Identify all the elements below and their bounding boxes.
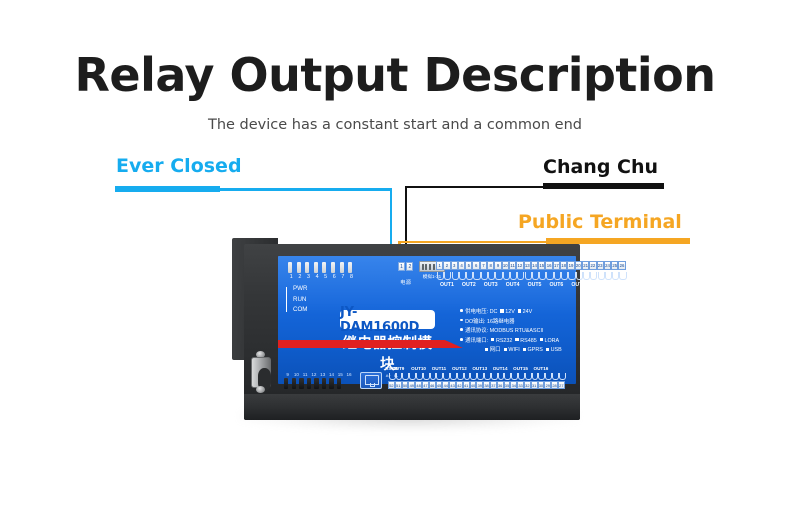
led-indicator bbox=[292, 378, 296, 389]
dip-pin bbox=[433, 264, 435, 270]
spec-option: 12V bbox=[505, 309, 515, 315]
terminal-screw bbox=[545, 270, 552, 281]
terminal-number: 8 bbox=[487, 261, 494, 270]
led-number: 16 bbox=[345, 372, 352, 377]
spec-option: 24V bbox=[523, 309, 533, 315]
db9-shell bbox=[251, 357, 271, 388]
output-label: OUT14 bbox=[490, 366, 510, 371]
led-number: 7 bbox=[340, 274, 347, 280]
output-label: OUT10 bbox=[408, 366, 428, 371]
terminal-number: 37 bbox=[490, 381, 497, 389]
led-number: 4 bbox=[314, 274, 321, 280]
terminal-number-row-top: 1234567891011121314151617181920212223242… bbox=[436, 261, 626, 270]
dip-pin bbox=[422, 264, 424, 270]
terminal-number: 38 bbox=[483, 381, 490, 389]
bullet-icon bbox=[460, 328, 463, 331]
spec-option: LORA bbox=[544, 338, 559, 344]
led-indicator bbox=[348, 262, 352, 273]
terminal-number-row-bottom: 5251504948474645444342414039383736353433… bbox=[388, 381, 565, 389]
terminal-screw bbox=[443, 270, 450, 281]
terminal-number: 11 bbox=[509, 261, 516, 270]
device-faceplate: 1 2 3 4 5 6 7 8 PWR RUN COM bbox=[278, 256, 576, 384]
power-terminal-block: 1 2 电源 bbox=[398, 262, 413, 286]
terminal-number: 48 bbox=[415, 381, 422, 389]
terminal-screw bbox=[567, 270, 574, 281]
terminal-screw bbox=[490, 372, 497, 381]
terminal-screw bbox=[487, 270, 494, 281]
bullet-icon bbox=[460, 319, 463, 322]
output-terminal-strip-top: 1234567891011121314151617181920212223242… bbox=[436, 261, 626, 288]
terminal-screw bbox=[494, 270, 501, 281]
checkbox-icon bbox=[504, 348, 507, 351]
spec-key: 通讯协议: bbox=[465, 328, 488, 334]
led-number: 3 bbox=[305, 274, 312, 280]
led-number: 9 bbox=[284, 372, 291, 377]
terminal-screw bbox=[480, 270, 487, 281]
spec-line-ports: 通讯端口:RS232RS485LORA bbox=[460, 337, 562, 347]
terminal-number: 14 bbox=[531, 261, 538, 270]
terminal-screw bbox=[524, 372, 531, 381]
terminal-screw bbox=[395, 372, 402, 381]
terminal-screw bbox=[504, 372, 511, 381]
bullet-icon bbox=[460, 309, 463, 312]
relay-module-device: 1 2 3 4 5 6 7 8 PWR RUN COM bbox=[232, 238, 580, 420]
terminal-screw bbox=[483, 372, 490, 381]
checkbox-icon bbox=[500, 309, 503, 312]
led-indicator bbox=[284, 378, 288, 389]
spec-key: 通讯端口: bbox=[465, 338, 488, 344]
db9-screw-icon bbox=[256, 386, 265, 393]
terminal-number: 12 bbox=[516, 261, 523, 270]
terminal-screw bbox=[429, 372, 436, 381]
spec-line-do-output: DO输出: 16路继电器 bbox=[460, 318, 562, 328]
chang-chu-leader-h bbox=[405, 186, 543, 188]
output-label: OUT1 bbox=[436, 282, 458, 288]
led-number: 13 bbox=[319, 372, 326, 377]
led-number: 6 bbox=[331, 274, 338, 280]
terminal-number: 9 bbox=[494, 261, 501, 270]
terminal-screw-row-bottom bbox=[388, 372, 565, 381]
terminal-number: 4 bbox=[458, 261, 465, 270]
led-numbers-bottom: 9 10 11 12 13 14 15 16 bbox=[284, 372, 353, 377]
terminal-screw bbox=[558, 372, 565, 381]
checkbox-icon bbox=[523, 348, 526, 351]
terminal-number: 21 bbox=[582, 261, 589, 270]
led-number: 12 bbox=[310, 372, 317, 377]
terminal-screw bbox=[463, 372, 470, 381]
terminal-number: 5 bbox=[465, 261, 472, 270]
terminal-screw bbox=[538, 270, 545, 281]
terminal-screw bbox=[604, 270, 611, 281]
terminal-number: 45 bbox=[436, 381, 443, 389]
terminal-number: 6 bbox=[472, 261, 479, 270]
terminal-screw bbox=[456, 372, 463, 381]
led-bank-top: 1 2 3 4 5 6 7 8 bbox=[288, 262, 355, 280]
spec-option: WIFI bbox=[508, 347, 519, 353]
led-number: 15 bbox=[337, 372, 344, 377]
terminal-number: 7 bbox=[480, 261, 487, 270]
output-label: OUT4 bbox=[502, 282, 524, 288]
terminal-screw bbox=[502, 270, 509, 281]
terminal-number: 29 bbox=[544, 381, 551, 389]
spec-option: 网口 bbox=[490, 347, 501, 353]
ever-closed-underline bbox=[115, 186, 220, 192]
spec-value: DC bbox=[490, 309, 498, 315]
terminal-screw bbox=[402, 372, 409, 381]
terminal-number: 15 bbox=[538, 261, 545, 270]
callout-label-public-terminal: Public Terminal bbox=[518, 211, 682, 233]
terminal-screw bbox=[472, 270, 479, 281]
bullet-icon bbox=[460, 338, 463, 341]
terminal-number: 25 bbox=[611, 261, 618, 270]
led-indicator bbox=[340, 262, 344, 273]
page-subtitle: The device has a constant start and a co… bbox=[0, 117, 790, 133]
output-label: OUT5 bbox=[524, 282, 546, 288]
checkbox-icon bbox=[515, 338, 518, 341]
terminal-number: 41 bbox=[463, 381, 470, 389]
terminal-number: 43 bbox=[449, 381, 456, 389]
chang-chu-underline bbox=[543, 183, 664, 189]
spec-line-protocol: 通讯协议: MODBUS RTU&ASCII bbox=[460, 327, 562, 337]
spec-option: RS232 bbox=[496, 338, 512, 344]
terminal-number: 50 bbox=[402, 381, 409, 389]
terminal-screw bbox=[560, 270, 567, 281]
terminal-number: 24 bbox=[604, 261, 611, 270]
spec-list: 供电电压: DC12V24V DO输出: 16路继电器 通讯协议: MODBUS… bbox=[460, 308, 562, 356]
spec-key: DO输出: bbox=[465, 319, 485, 325]
terminal-number: 31 bbox=[531, 381, 538, 389]
terminal-number: 39 bbox=[476, 381, 483, 389]
terminal-number: 46 bbox=[429, 381, 436, 389]
terminal-screw bbox=[516, 270, 523, 281]
terminal-number: 16 bbox=[545, 261, 552, 270]
checkbox-icon bbox=[518, 309, 521, 312]
output-label: OUT15 bbox=[510, 366, 530, 371]
terminal-screw bbox=[553, 270, 560, 281]
output-label: OUT12 bbox=[449, 366, 469, 371]
terminal-number: 51 bbox=[395, 381, 402, 389]
spec-option: RS485 bbox=[520, 338, 536, 344]
terminal-screw bbox=[531, 270, 538, 281]
led-indicator bbox=[322, 262, 326, 273]
terminal-number: 2 bbox=[443, 261, 450, 270]
led-indicator bbox=[329, 378, 333, 389]
terminal-number: 28 bbox=[551, 381, 558, 389]
led-indicator bbox=[305, 262, 309, 273]
terminal-screw bbox=[582, 270, 589, 281]
terminal-number: 34 bbox=[510, 381, 517, 389]
terminal-number: 49 bbox=[408, 381, 415, 389]
spec-option: GPRS bbox=[528, 347, 543, 353]
power-terminal: 2 bbox=[406, 262, 413, 271]
output-label: OUT11 bbox=[429, 366, 449, 371]
ever-closed-leader-h bbox=[220, 188, 392, 191]
checkbox-icon bbox=[546, 348, 549, 351]
output-label-row-bottom: OUT9OUT10OUT11OUT12OUT13OUT14OUT15OUT16 bbox=[388, 366, 565, 371]
model-badge: JY-DAM1600D bbox=[340, 310, 435, 329]
output-terminal-strip-bottom: OUT9OUT10OUT11OUT12OUT13OUT14OUT15OUT16 … bbox=[388, 366, 565, 389]
terminal-screw bbox=[458, 270, 465, 281]
output-label: OUT16 bbox=[531, 366, 551, 371]
checkbox-icon bbox=[491, 338, 494, 341]
dip-pin bbox=[425, 264, 427, 270]
terminal-screw bbox=[465, 270, 472, 281]
chassis-bottom-lip bbox=[244, 394, 580, 420]
status-bracket-icon bbox=[286, 287, 291, 312]
power-terminal-boxes: 1 2 bbox=[398, 262, 413, 271]
terminal-number: 33 bbox=[517, 381, 524, 389]
terminal-number: 30 bbox=[538, 381, 545, 389]
spec-option: USB bbox=[551, 347, 562, 353]
output-label: OUT2 bbox=[458, 282, 480, 288]
db9-serial-connector bbox=[248, 351, 274, 393]
terminal-screw-row-top bbox=[436, 270, 626, 281]
terminal-screw bbox=[415, 372, 422, 381]
led-indicator bbox=[299, 378, 303, 389]
led-numbers-top: 1 2 3 4 5 6 7 8 bbox=[288, 274, 355, 280]
led-row-top bbox=[288, 262, 355, 273]
terminal-screw bbox=[442, 372, 449, 381]
spec-value: MODBUS RTU&ASCII bbox=[490, 328, 544, 334]
terminal-number: 35 bbox=[504, 381, 511, 389]
led-number: 5 bbox=[322, 274, 329, 280]
terminal-screw bbox=[551, 372, 558, 381]
output-label: OUT3 bbox=[480, 282, 502, 288]
led-indicator bbox=[288, 262, 292, 273]
led-indicator bbox=[314, 378, 318, 389]
led-number: 11 bbox=[302, 372, 309, 377]
terminal-number: 44 bbox=[442, 381, 449, 389]
led-number: 10 bbox=[293, 372, 300, 377]
terminal-screw bbox=[589, 270, 596, 281]
terminal-number: 26 bbox=[618, 261, 625, 270]
terminal-number: 10 bbox=[502, 261, 509, 270]
spec-line-voltage: 供电电压: DC12V24V bbox=[460, 308, 562, 318]
terminal-screw bbox=[476, 372, 483, 381]
led-indicator bbox=[297, 262, 301, 273]
output-label: OUT13 bbox=[470, 366, 490, 371]
terminal-number: 40 bbox=[470, 381, 477, 389]
power-terminal: 1 bbox=[398, 262, 405, 271]
terminal-screw bbox=[422, 372, 429, 381]
terminal-number: 27 bbox=[558, 381, 565, 389]
power-caption: 电源 bbox=[398, 279, 413, 286]
led-indicator bbox=[307, 378, 311, 389]
terminal-number: 36 bbox=[497, 381, 504, 389]
page-root: Relay Output Description The device has … bbox=[0, 0, 790, 517]
page-title: Relay Output Description bbox=[0, 48, 790, 102]
terminal-number: 47 bbox=[422, 381, 429, 389]
terminal-screw bbox=[436, 372, 443, 381]
terminal-screw bbox=[509, 270, 516, 281]
terminal-number: 17 bbox=[553, 261, 560, 270]
terminal-number: 52 bbox=[388, 381, 395, 389]
terminal-number: 23 bbox=[597, 261, 604, 270]
led-row-bottom bbox=[284, 378, 353, 389]
terminal-screw bbox=[388, 372, 395, 381]
terminal-screw bbox=[544, 372, 551, 381]
output-label: OUT9 bbox=[388, 366, 408, 371]
terminal-screw bbox=[436, 270, 443, 281]
rj45-latch-icon bbox=[370, 383, 375, 387]
terminal-number: 13 bbox=[524, 261, 531, 270]
led-number: 14 bbox=[328, 372, 335, 377]
led-number: 2 bbox=[297, 274, 304, 280]
output-label: OUT8 bbox=[589, 282, 611, 288]
terminal-screw bbox=[497, 372, 504, 381]
terminal-screw bbox=[538, 372, 545, 381]
led-indicator bbox=[337, 378, 341, 389]
terminal-number: 22 bbox=[589, 261, 596, 270]
status-label-group: PWR RUN COM bbox=[287, 284, 307, 316]
spec-key: 供电电压: bbox=[465, 309, 488, 315]
checkbox-icon bbox=[485, 348, 488, 351]
led-indicator bbox=[314, 262, 318, 273]
led-number: 8 bbox=[348, 274, 355, 280]
led-bank-bottom: 9 10 11 12 13 14 15 16 bbox=[284, 372, 353, 389]
led-number: 1 bbox=[288, 274, 295, 280]
callout-label-chang-chu: Chang Chu bbox=[543, 156, 658, 178]
terminal-screw bbox=[531, 372, 538, 381]
terminal-screw bbox=[575, 270, 582, 281]
terminal-number: 32 bbox=[524, 381, 531, 389]
terminal-number: 1 bbox=[436, 261, 443, 270]
dip-pin bbox=[429, 264, 431, 270]
output-label-row-top: OUT1OUT2OUT3OUT4OUT5OUT6OUT7OUT8 bbox=[436, 282, 626, 288]
terminal-number: 42 bbox=[456, 381, 463, 389]
spec-value: 16路继电器 bbox=[487, 319, 515, 325]
led-indicator bbox=[331, 262, 335, 273]
callout-label-ever-closed: Ever Closed bbox=[116, 155, 242, 177]
spec-line-ports-row2: 网口WIFIGPRSUSB bbox=[460, 346, 562, 356]
checkbox-icon bbox=[540, 338, 543, 341]
terminal-screw bbox=[449, 372, 456, 381]
terminal-number: 19 bbox=[567, 261, 574, 270]
terminal-screw bbox=[517, 372, 524, 381]
terminal-screw bbox=[510, 372, 517, 381]
terminal-number: 3 bbox=[451, 261, 458, 270]
led-indicator bbox=[322, 378, 326, 389]
terminal-screw bbox=[408, 372, 415, 381]
output-label: OUT7 bbox=[567, 282, 589, 288]
terminal-screw bbox=[451, 270, 458, 281]
terminal-number: 18 bbox=[560, 261, 567, 270]
output-label: OUT6 bbox=[545, 282, 567, 288]
terminal-screw bbox=[618, 270, 625, 281]
terminal-screw bbox=[524, 270, 531, 281]
terminal-number: 20 bbox=[575, 261, 582, 270]
terminal-screw bbox=[597, 270, 604, 281]
terminal-screw bbox=[470, 372, 477, 381]
terminal-screw bbox=[611, 270, 618, 281]
rj45-ethernet-jack bbox=[360, 372, 382, 389]
